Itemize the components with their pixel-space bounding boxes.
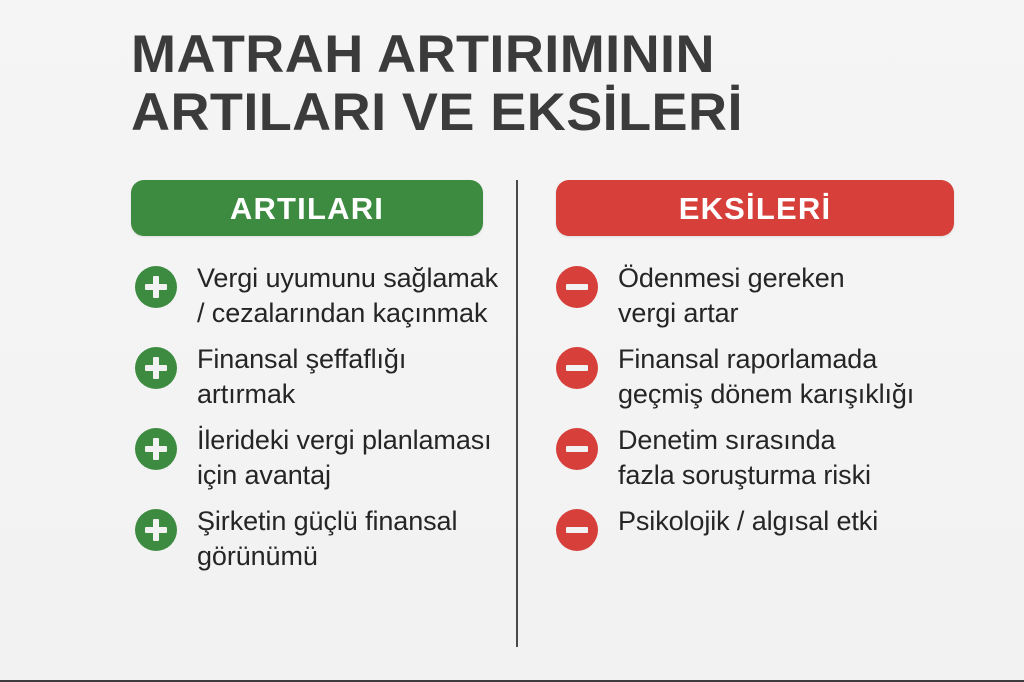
- list-item-text: Psikolojik / algısal etki: [618, 502, 878, 539]
- list-item-line-1: Psikolojik / algısal etki: [618, 504, 878, 539]
- list-item-line-2: görünümü: [197, 539, 457, 574]
- minus-icon: [556, 347, 598, 389]
- minus-icon: [556, 509, 598, 551]
- list-item-text: Denetim sırasında fazla soruşturma riski: [618, 421, 871, 493]
- list-item-line-1: Denetim sırasında: [618, 423, 871, 458]
- positive-header-pill: ARTILARI: [131, 180, 483, 236]
- list-item-text: Finansal şeffaflığı artırmak: [197, 340, 406, 412]
- list-item-text: Vergi uyumunu sağlamak / cezalarından ka…: [197, 259, 498, 331]
- list-item-line-1: Şirketin güçlü finansal: [197, 504, 457, 539]
- list-item-line-2: / cezalarından kaçınmak: [197, 296, 498, 331]
- page-title: MATRAH ARTIRIMININ ARTILARI VE EKSİLERİ: [131, 26, 911, 142]
- plus-icon: [135, 509, 177, 551]
- list-item: Vergi uyumunu sağlamak / cezalarından ka…: [131, 259, 487, 331]
- list-item-line-1: Vergi uyumunu sağlamak: [197, 261, 498, 296]
- list-item-line-2: için avantaj: [197, 458, 492, 493]
- list-item: Ödenmesi gereken vergi artar: [556, 259, 956, 331]
- negative-header-label: EKSİLERİ: [679, 193, 832, 224]
- column-divider: [516, 180, 518, 647]
- list-item-line-2: vergi artar: [618, 296, 845, 331]
- column-negative: EKSİLERİ Ödenmesi gereken vergi artar: [556, 180, 956, 560]
- list-item-line-1: Ödenmesi gereken: [618, 261, 845, 296]
- plus-icon: [135, 428, 177, 470]
- title-line-1: MATRAH ARTIRIMININ: [131, 26, 927, 84]
- title-line-2: ARTILARI VE EKSİLERİ: [131, 84, 927, 142]
- list-item-text: Şirketin güçlü finansal görünümü: [197, 502, 457, 574]
- list-item: İlerideki vergi planlaması için avantaj: [131, 421, 487, 493]
- column-positive: ARTILARI Vergi uyumunu sağlamak / cezala…: [131, 180, 487, 583]
- list-item: Finansal raporlamada geçmiş dönem karışı…: [556, 340, 956, 412]
- list-item-line-2: artırmak: [197, 377, 406, 412]
- list-item-line-2: geçmiş dönem karışıklığı: [618, 377, 914, 412]
- list-item-line-1: Finansal şeffaflığı: [197, 342, 406, 377]
- list-item: Psikolojik / algısal etki: [556, 502, 956, 551]
- list-item: Denetim sırasında fazla soruşturma riski: [556, 421, 956, 493]
- list-item: Finansal şeffaflığı artırmak: [131, 340, 487, 412]
- minus-icon: [556, 428, 598, 470]
- negative-list: Ödenmesi gereken vergi artar Finansal ra…: [556, 259, 956, 560]
- positive-header-label: ARTILARI: [230, 193, 384, 224]
- plus-icon: [135, 347, 177, 389]
- list-item: Şirketin güçlü finansal görünümü: [131, 502, 487, 574]
- list-item-line-2: fazla soruşturma riski: [618, 458, 871, 493]
- list-item-text: İlerideki vergi planlaması için avantaj: [197, 421, 492, 493]
- infographic-canvas: MATRAH ARTIRIMININ ARTILARI VE EKSİLERİ …: [0, 0, 1024, 682]
- negative-header-pill: EKSİLERİ: [556, 180, 954, 236]
- positive-list: Vergi uyumunu sağlamak / cezalarından ka…: [131, 259, 487, 583]
- plus-icon: [135, 266, 177, 308]
- list-item-text: Ödenmesi gereken vergi artar: [618, 259, 845, 331]
- list-item-line-1: İlerideki vergi planlaması: [197, 423, 492, 458]
- list-item-text: Finansal raporlamada geçmiş dönem karışı…: [618, 340, 914, 412]
- comparison-columns: ARTILARI Vergi uyumunu sağlamak / cezala…: [0, 180, 1024, 650]
- minus-icon: [556, 266, 598, 308]
- list-item-line-1: Finansal raporlamada: [618, 342, 914, 377]
